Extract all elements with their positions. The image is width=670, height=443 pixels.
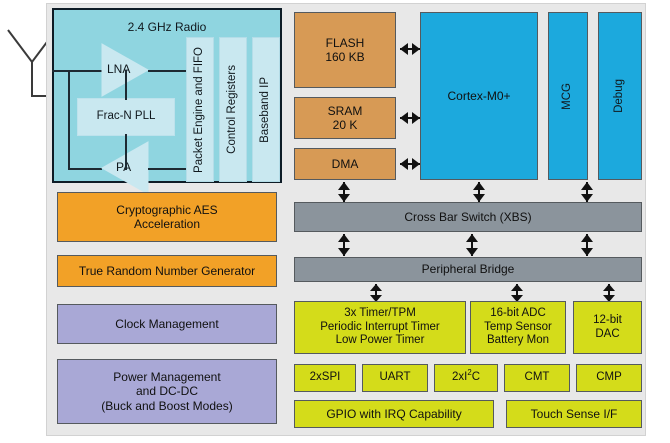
touch-sense-label: Touch Sense I/F: [531, 407, 618, 421]
radio-subblock-label: Packet Engine and FIFO: [193, 47, 207, 173]
core-xbs-arrow: [470, 181, 488, 203]
flash-core-arrow: [399, 40, 421, 58]
sram-core-arrow: [399, 109, 421, 127]
gpio-block[interactable]: GPIO with IRQ Capability: [294, 400, 494, 428]
debug-label: Debug: [613, 79, 627, 113]
dma-core-arrow: [399, 155, 421, 173]
radio-subblock-baseband-ip[interactable]: Baseband IP: [252, 37, 280, 182]
dma-xbs-arrow: [335, 181, 353, 203]
timer-block[interactable]: 3x Timer/TPM Periodic Interrupt Timer Lo…: [294, 301, 466, 354]
frac-n-pll-label: Frac-N PLL: [97, 110, 156, 124]
mcg-label: MCG: [561, 83, 575, 110]
pa-input-wire: [148, 168, 188, 170]
frac-n-pll-block[interactable]: Frac-N PLL: [77, 98, 175, 136]
dac-block[interactable]: 12-bit DAC: [573, 301, 642, 354]
cortex-m0-block[interactable]: Cortex-M0+: [420, 12, 538, 180]
dac-label-line2: DAC: [595, 328, 619, 342]
flash-label-line1: FLASH: [326, 36, 365, 50]
spi-label: 2xSPI: [310, 371, 341, 385]
cmt-label: CMT: [525, 371, 550, 385]
aes-label-line2: Acceleration: [134, 217, 200, 231]
spi-block[interactable]: 2xSPI: [294, 364, 356, 392]
adc-label-line3: Battery Mon: [487, 334, 549, 348]
power-management-block[interactable]: Power Management and DC-DC (Buck and Boo…: [57, 359, 277, 424]
timer-label-line2: Periodic Interrupt Timer: [320, 321, 440, 335]
power-label-line3: (Buck and Boost Modes): [101, 399, 232, 413]
pll-to-lna-wire: [125, 70, 127, 100]
radio-subblock-label: Control Registers: [226, 65, 240, 154]
trng-label: True Random Number Generator: [79, 264, 255, 278]
flash-label-line2: 160 KB: [325, 50, 364, 64]
power-label-line1: Power Management: [113, 370, 220, 384]
sram-label-line2: 20 K: [333, 118, 358, 132]
antenna-feed-wire: [52, 70, 70, 72]
xbs-label: Cross Bar Switch (XBS): [404, 210, 531, 224]
radio-block[interactable]: 2.4 GHz Radio LNA PA Frac-N PLL Packet E…: [52, 8, 282, 183]
timer-label-line3: Low Power Timer: [336, 334, 425, 348]
clock-management-block[interactable]: Clock Management: [57, 304, 277, 344]
trng-block[interactable]: True Random Number Generator: [57, 255, 277, 287]
radio-subblock-control-registers[interactable]: Control Registers: [219, 37, 247, 182]
i2c-label: 2xI2C: [452, 371, 480, 385]
clock-management-label: Clock Management: [115, 317, 218, 331]
radio-subblock-packet-engine[interactable]: Packet Engine and FIFO: [186, 37, 214, 182]
sram-block[interactable]: SRAM 20 K: [294, 97, 396, 139]
block-diagram-canvas: 2.4 GHz Radio LNA PA Frac-N PLL Packet E…: [0, 0, 670, 443]
radio-bus-wire: [68, 70, 70, 170]
aes-acceleration-block[interactable]: Cryptographic AES Acceleration: [57, 192, 277, 242]
cortex-m0-label: Cortex-M0+: [447, 89, 510, 103]
debug-xbs-arrow: [578, 181, 596, 203]
touch-sense-block[interactable]: Touch Sense I/F: [506, 400, 642, 428]
radio-wire-to-pa: [68, 168, 102, 170]
mcg-block[interactable]: MCG: [548, 12, 588, 180]
i2c-label-post: C: [472, 371, 480, 383]
radio-subblock-label: Baseband IP: [259, 77, 273, 143]
uart-block[interactable]: UART: [362, 364, 428, 392]
bridge-adc-arrow: [508, 283, 526, 303]
cmp-label: CMP: [596, 371, 622, 385]
pa-label: PA: [116, 160, 131, 174]
peripheral-bridge-block[interactable]: Peripheral Bridge: [294, 257, 642, 282]
cmp-block[interactable]: CMP: [576, 364, 642, 392]
dma-block[interactable]: DMA: [294, 148, 396, 180]
power-label-line2: and DC-DC: [136, 384, 198, 398]
adc-label-line1: 16-bit ADC: [490, 307, 546, 321]
adc-label-line2: Temp Sensor: [484, 321, 552, 335]
cross-bar-switch-block[interactable]: Cross Bar Switch (XBS): [294, 202, 642, 232]
pll-to-pa-wire: [125, 134, 127, 170]
peripheral-bridge-label: Peripheral Bridge: [422, 262, 515, 276]
timer-label-line1: 3x Timer/TPM: [344, 307, 416, 321]
xbs-bridge-arrow-left: [335, 233, 353, 257]
aes-label-line1: Cryptographic AES: [116, 203, 217, 217]
dma-label: DMA: [332, 157, 359, 171]
cmt-block[interactable]: CMT: [504, 364, 570, 392]
gpio-label: GPIO with IRQ Capability: [326, 407, 461, 421]
radio-wire-to-lna: [68, 70, 102, 72]
i2c-block[interactable]: 2xI2C: [434, 364, 498, 392]
xbs-bridge-arrow-right: [578, 233, 596, 257]
adc-block[interactable]: 16-bit ADC Temp Sensor Battery Mon: [470, 301, 566, 354]
sram-label-line1: SRAM: [328, 104, 363, 118]
uart-label: UART: [379, 371, 410, 385]
debug-block[interactable]: Debug: [598, 12, 642, 180]
xbs-bridge-arrow-mid: [463, 233, 481, 257]
flash-block[interactable]: FLASH 160 KB: [294, 12, 396, 88]
lna-output-wire: [148, 70, 188, 72]
dac-label-line1: 12-bit: [593, 314, 622, 328]
radio-title: 2.4 GHz Radio: [54, 20, 280, 34]
bridge-timer-arrow: [367, 283, 385, 303]
bridge-dac-arrow: [600, 283, 618, 303]
i2c-label-pre: 2xI: [452, 371, 467, 383]
